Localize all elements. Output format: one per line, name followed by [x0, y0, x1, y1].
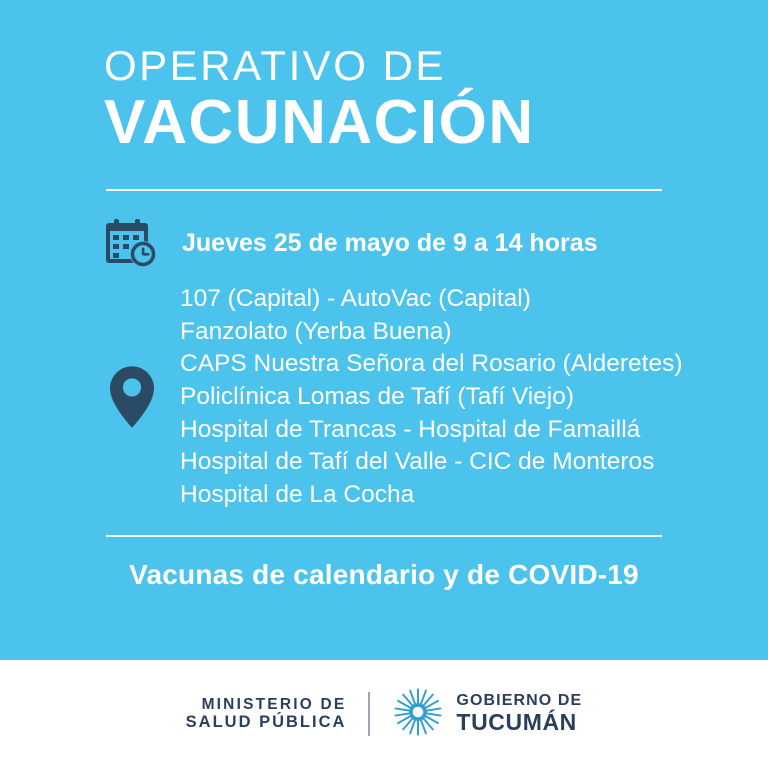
- calendar-clock-icon: [104, 217, 160, 269]
- list-item: Hospital de La Cocha: [180, 479, 682, 512]
- list-item: Hospital de Tafí del Valle - CIC de Mont…: [180, 446, 682, 479]
- list-item: Policlínica Lomas de Tafí (Tafí Viejo): [180, 381, 682, 414]
- footer-bar: MINISTERIO DE SALUD PÚBLICA: [0, 660, 768, 768]
- schedule-date-text: Jueves 25 de mayo de 9 a 14 horas: [182, 229, 598, 258]
- gov-line1: GOBIERNO DE: [456, 692, 582, 710]
- gov-line2: TUCUMÁN: [456, 710, 582, 736]
- list-item: Hospital de Trancas - Hospital de Famail…: [180, 414, 682, 447]
- list-item: Fanzolato (Yerba Buena): [180, 316, 682, 349]
- locations-list: 107 (Capital) - AutoVac (Capital) Fanzol…: [180, 283, 682, 511]
- divider-bottom: [106, 535, 662, 537]
- government-logo: GOBIERNO DE TUCUMÁN: [392, 686, 582, 743]
- tagline: Vacunas de calendario y de COVID-19: [54, 559, 714, 591]
- poster-content: OPERATIVO DE VACUNACIÓN: [0, 0, 768, 660]
- government-logo-text: GOBIERNO DE TUCUMÁN: [456, 692, 582, 736]
- list-item: CAPS Nuestra Señora del Rosario (Alderet…: [180, 348, 682, 381]
- ministry-logo-text: MINISTERIO DE SALUD PÚBLICA: [186, 696, 347, 733]
- schedule-row: Jueves 25 de mayo de 9 a 14 horas: [54, 217, 714, 269]
- ministry-line1: MINISTERIO DE: [186, 696, 347, 714]
- divider-top: [106, 189, 662, 191]
- page-title-line2: VACUNACIÓN: [104, 90, 714, 155]
- poster: OPERATIVO DE VACUNACIÓN: [0, 0, 768, 768]
- ministry-line2: SALUD PÚBLICA: [186, 713, 347, 732]
- page-title-line1: OPERATIVO DE: [104, 44, 714, 88]
- map-pin-icon: [106, 365, 158, 429]
- locations-row: 107 (Capital) - AutoVac (Capital) Fanzol…: [54, 283, 714, 511]
- footer-divider: [368, 692, 370, 736]
- tucuman-sun-logo-icon: [392, 686, 444, 743]
- title-block: OPERATIVO DE VACUNACIÓN: [54, 0, 714, 155]
- list-item: 107 (Capital) - AutoVac (Capital): [180, 283, 682, 316]
